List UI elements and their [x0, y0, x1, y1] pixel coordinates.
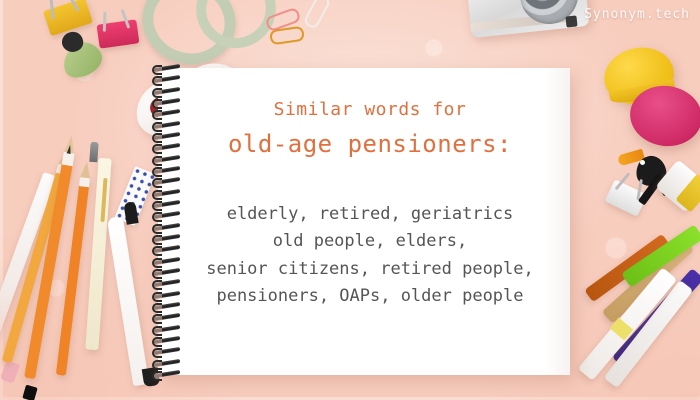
spiral-coil [152, 123, 182, 128]
spiral-coil [152, 157, 182, 162]
cream-pen-tip [89, 142, 98, 163]
spiral-binding [152, 66, 182, 377]
spiral-coil [152, 100, 182, 105]
synonym-line: elderly, retired, geriatrics [178, 201, 562, 229]
spiral-coil [152, 236, 182, 241]
spiral-coil [152, 66, 182, 71]
spiral-coil [152, 168, 182, 173]
spiral-coil [152, 191, 182, 196]
spiral-coil [152, 259, 182, 264]
camera-shutter-button [565, 15, 577, 27]
spiral-coil [152, 202, 182, 207]
spiral-coil [152, 293, 182, 298]
spiral-coil [152, 281, 182, 286]
site-watermark: Synonym.tech [584, 7, 690, 22]
spiral-coil [152, 349, 182, 354]
spiral-coil [152, 315, 182, 320]
spiral-coil [152, 338, 182, 343]
synonym-line: pensioners, OAPs, older people [178, 283, 562, 311]
spiral-coil [152, 145, 182, 150]
spiral-coil [152, 225, 182, 230]
desk-photo-scene: Similar words for old-age pensioners: el… [0, 0, 700, 400]
spiral-coil [152, 304, 182, 309]
toucan-eye [640, 160, 645, 165]
spiral-coil [152, 111, 182, 116]
synonym-line: senior citizens, retired people, [178, 256, 562, 284]
spiral-coil [152, 213, 182, 218]
spiral-coil [152, 89, 182, 94]
spiral-coil [152, 179, 182, 184]
page-content: Similar words for old-age pensioners: el… [178, 68, 562, 375]
spiral-coil [152, 77, 182, 82]
synonym-list: elderly, retired, geriatrics old people,… [178, 201, 562, 311]
spiral-coil [152, 270, 182, 275]
page-title: old-age pensioners: [178, 128, 562, 160]
spiral-coil [152, 361, 182, 366]
spiral-coil [152, 134, 182, 139]
spiral-coil [152, 372, 182, 377]
synonym-line: old people, elders, [178, 228, 562, 256]
spiral-coil [152, 327, 182, 332]
heading-prefix: Similar words for [178, 98, 562, 122]
spiral-coil [152, 247, 182, 252]
